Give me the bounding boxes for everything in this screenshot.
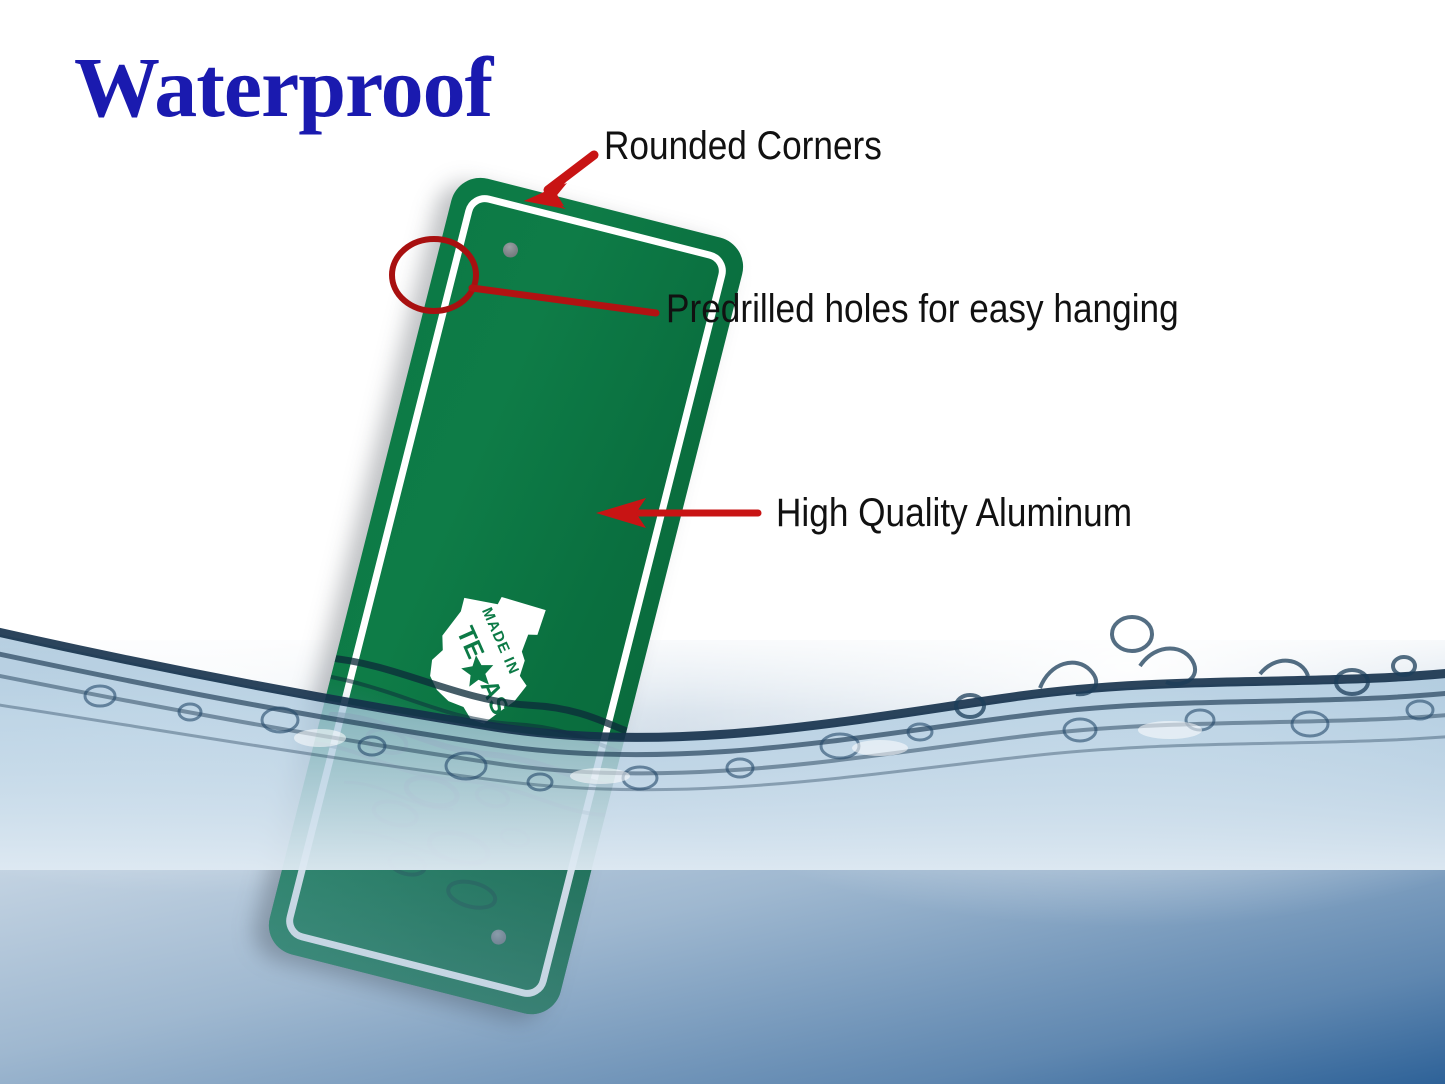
annotation-label-high-quality-aluminum: High Quality Aluminum [776,493,1132,533]
product-infographic: MADE IN TE AS [0,0,1445,1084]
annotation-label-rounded-corners: Rounded Corners [604,126,882,166]
annotation-label-predrilled-holes: Predrilled holes for easy hanging [666,289,1179,329]
water-body [0,640,1445,1084]
page-title: Waterproof [74,44,492,130]
